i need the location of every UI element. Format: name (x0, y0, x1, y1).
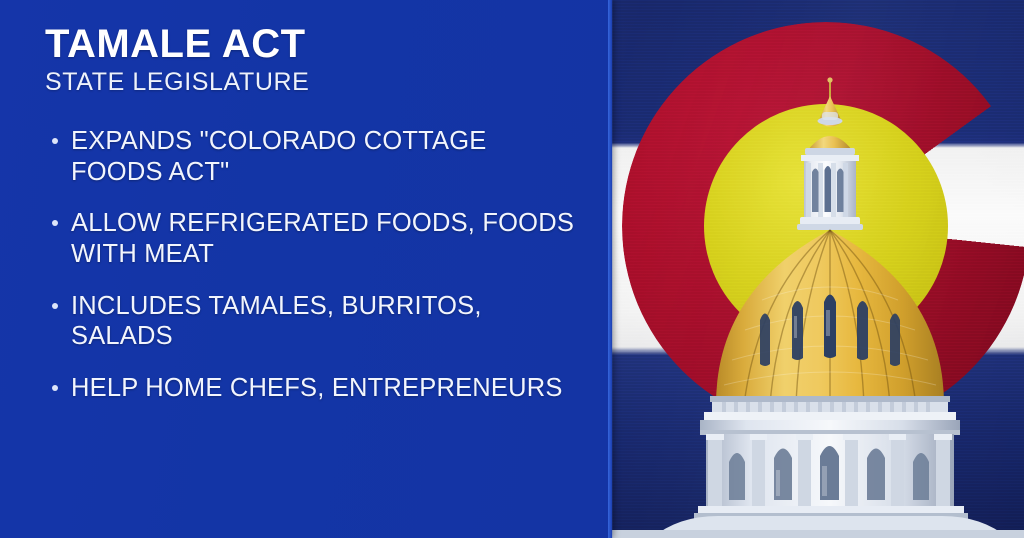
page-title: TAMALE ACT (45, 24, 582, 65)
broadcast-graphic-screen: TAMALE ACT STATE LEGISLATURE EXPANDS "CO… (0, 0, 1024, 538)
dome-upper-gold-band (805, 136, 855, 155)
dome-cupola-top (818, 96, 843, 127)
info-panel: TAMALE ACT STATE LEGISLATURE EXPANDS "CO… (0, 0, 612, 538)
dome-gold-shell (710, 230, 950, 413)
page-subtitle: STATE LEGISLATURE (45, 69, 582, 97)
list-item: HELP HOME CHEFS, ENTREPRENEURS (45, 373, 585, 404)
list-item: ALLOW REFRIGERATED FOODS, FOODS WITH MEA… (45, 208, 585, 269)
bullet-list: EXPANDS "COLORADO COTTAGE FOODS ACT" ALL… (45, 126, 585, 403)
colorado-state-capitol-dome (612, 0, 1024, 538)
list-item: INCLUDES TAMALES, BURRITOS, SALADS (45, 291, 585, 352)
dome-lantern (797, 155, 863, 230)
capitol-drum (612, 412, 1024, 538)
panel-edge-highlight (608, 0, 613, 538)
list-item: EXPANDS "COLORADO COTTAGE FOODS ACT" (45, 126, 585, 187)
